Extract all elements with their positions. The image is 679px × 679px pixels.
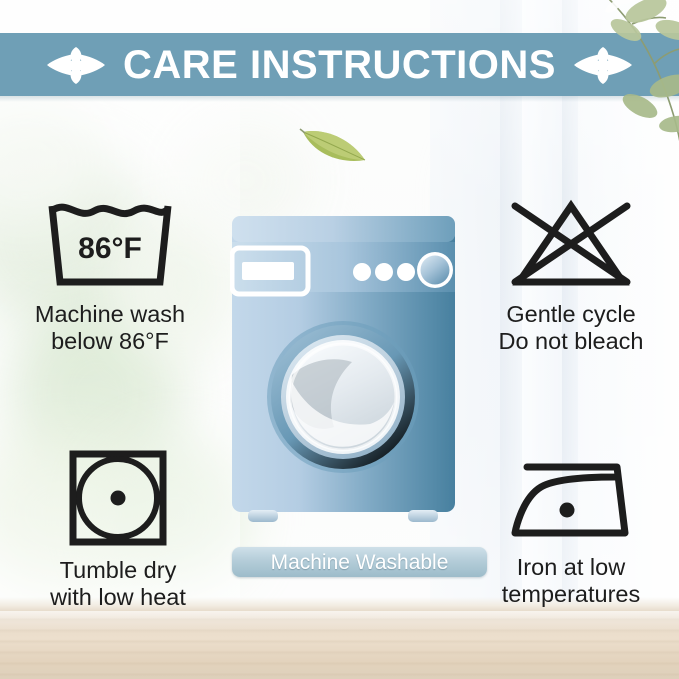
care-symbol-do-not-bleach: Gentle cycle Do not bleach <box>466 196 676 356</box>
machine-foot <box>408 510 438 522</box>
page-title: CARE INSTRUCTIONS <box>123 45 556 85</box>
care-symbol-caption: Gentle cycle Do not bleach <box>466 301 676 356</box>
machine-foot <box>248 510 278 522</box>
care-symbol-caption: Machine wash below 86°F <box>5 301 215 356</box>
care-symbol-iron: Iron at low temperatures <box>466 455 676 609</box>
care-symbol-machine-wash: 86°F Machine wash below 86°F <box>5 196 215 356</box>
wash-tub-icon: 86°F <box>5 196 215 292</box>
machine-door <box>267 321 419 473</box>
header-banner: CARE INSTRUCTIONS <box>0 33 679 96</box>
machine-top <box>232 216 455 242</box>
program-dial <box>417 252 453 288</box>
crossed-triangle-icon <box>466 196 676 292</box>
care-symbol-tumble-dry: Tumble dry with low heat <box>13 448 223 612</box>
banner-shadow <box>0 96 679 102</box>
control-button <box>375 263 393 281</box>
iron-icon <box>466 455 676 545</box>
wood-highlight <box>0 611 679 633</box>
machine-washable-badge: Machine Washable <box>232 547 487 577</box>
control-button <box>353 263 371 281</box>
fleur-de-lis-icon-left <box>47 42 105 88</box>
control-button <box>397 263 415 281</box>
machine-washable-label: Machine Washable <box>271 552 449 573</box>
foliage-branch-icon <box>596 0 679 144</box>
floating-leaf-icon <box>299 122 371 166</box>
care-symbol-caption: Iron at low temperatures <box>466 554 676 609</box>
tumble-dry-square-icon <box>13 448 223 548</box>
table-surface <box>0 611 679 679</box>
care-symbol-caption: Tumble dry with low heat <box>13 557 223 612</box>
wash-temperature-value: 86°F <box>78 232 142 265</box>
washing-machine-illustration <box>230 212 457 537</box>
